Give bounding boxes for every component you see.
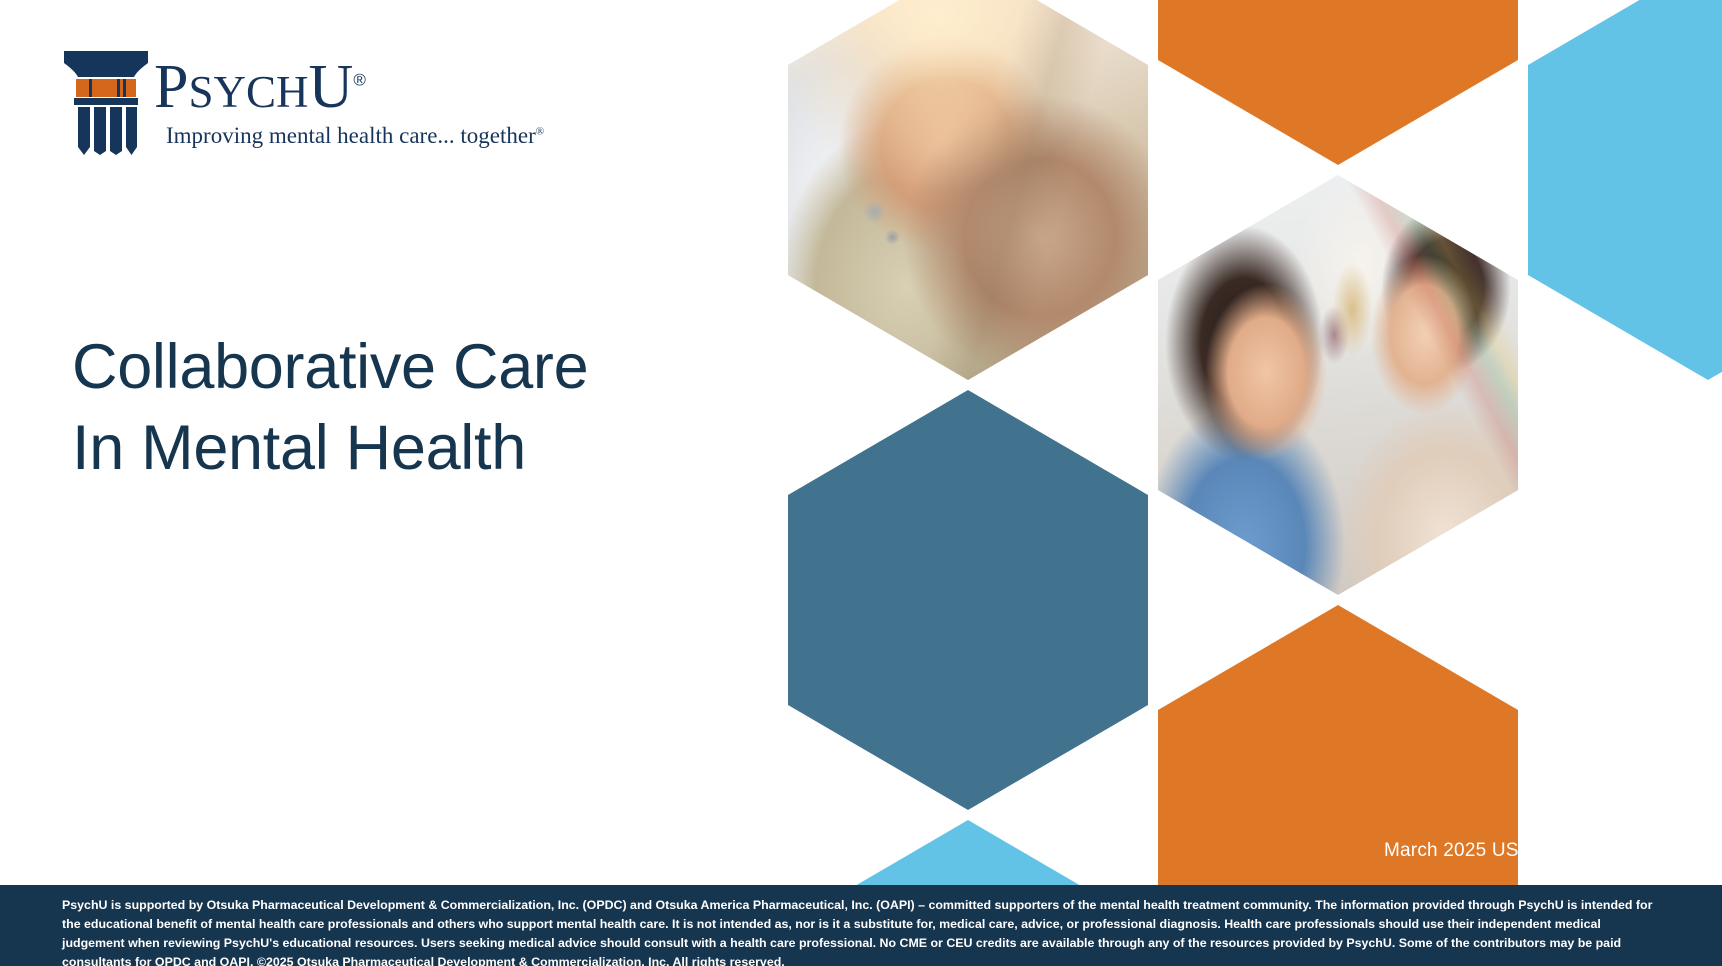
logo-wordmark-sych: SYCH: [188, 67, 308, 117]
logo-wordmark-p: P: [154, 53, 188, 121]
date-and-job-code: March 2025 US.PSY.D.25.00010: [1384, 840, 1666, 862]
page-title-line-2: In Mental Health: [72, 408, 772, 489]
registered-mark-icon: ®: [353, 70, 366, 89]
tagline-registered-mark-icon: ®: [536, 125, 544, 137]
hexagon-photo-two-women: [1158, 175, 1518, 595]
title-slide: PSYCHU® Improving mental health care... …: [0, 0, 1722, 966]
hexagon-lightblue-right: [1528, 0, 1722, 380]
logo-wordmark: PSYCHU®: [154, 56, 366, 118]
footer-disclaimer: PsychU is supported by Otsuka Pharmaceut…: [62, 896, 1662, 966]
footer-bar: PsychU is supported by Otsuka Pharmaceut…: [0, 885, 1722, 966]
psychu-logo[interactable]: PSYCHU® Improving mental health care... …: [62, 47, 432, 157]
logo-tagline-text: Improving mental health care... together: [166, 123, 536, 148]
logo-wordmark-u: U: [309, 53, 354, 121]
greek-column-icon: [62, 47, 150, 155]
hexagon-steel-blue-left: [788, 390, 1148, 810]
page-title-line-1: Collaborative Care: [72, 327, 772, 408]
hexagon-photo-clinician-hands: [788, 0, 1148, 380]
hexagon-collage: [770, 0, 1722, 910]
hexagon-orange-top: [1158, 0, 1518, 165]
logo-tagline: Improving mental health care... together…: [166, 123, 544, 149]
page-title: Collaborative Care In Mental Health: [72, 327, 772, 488]
